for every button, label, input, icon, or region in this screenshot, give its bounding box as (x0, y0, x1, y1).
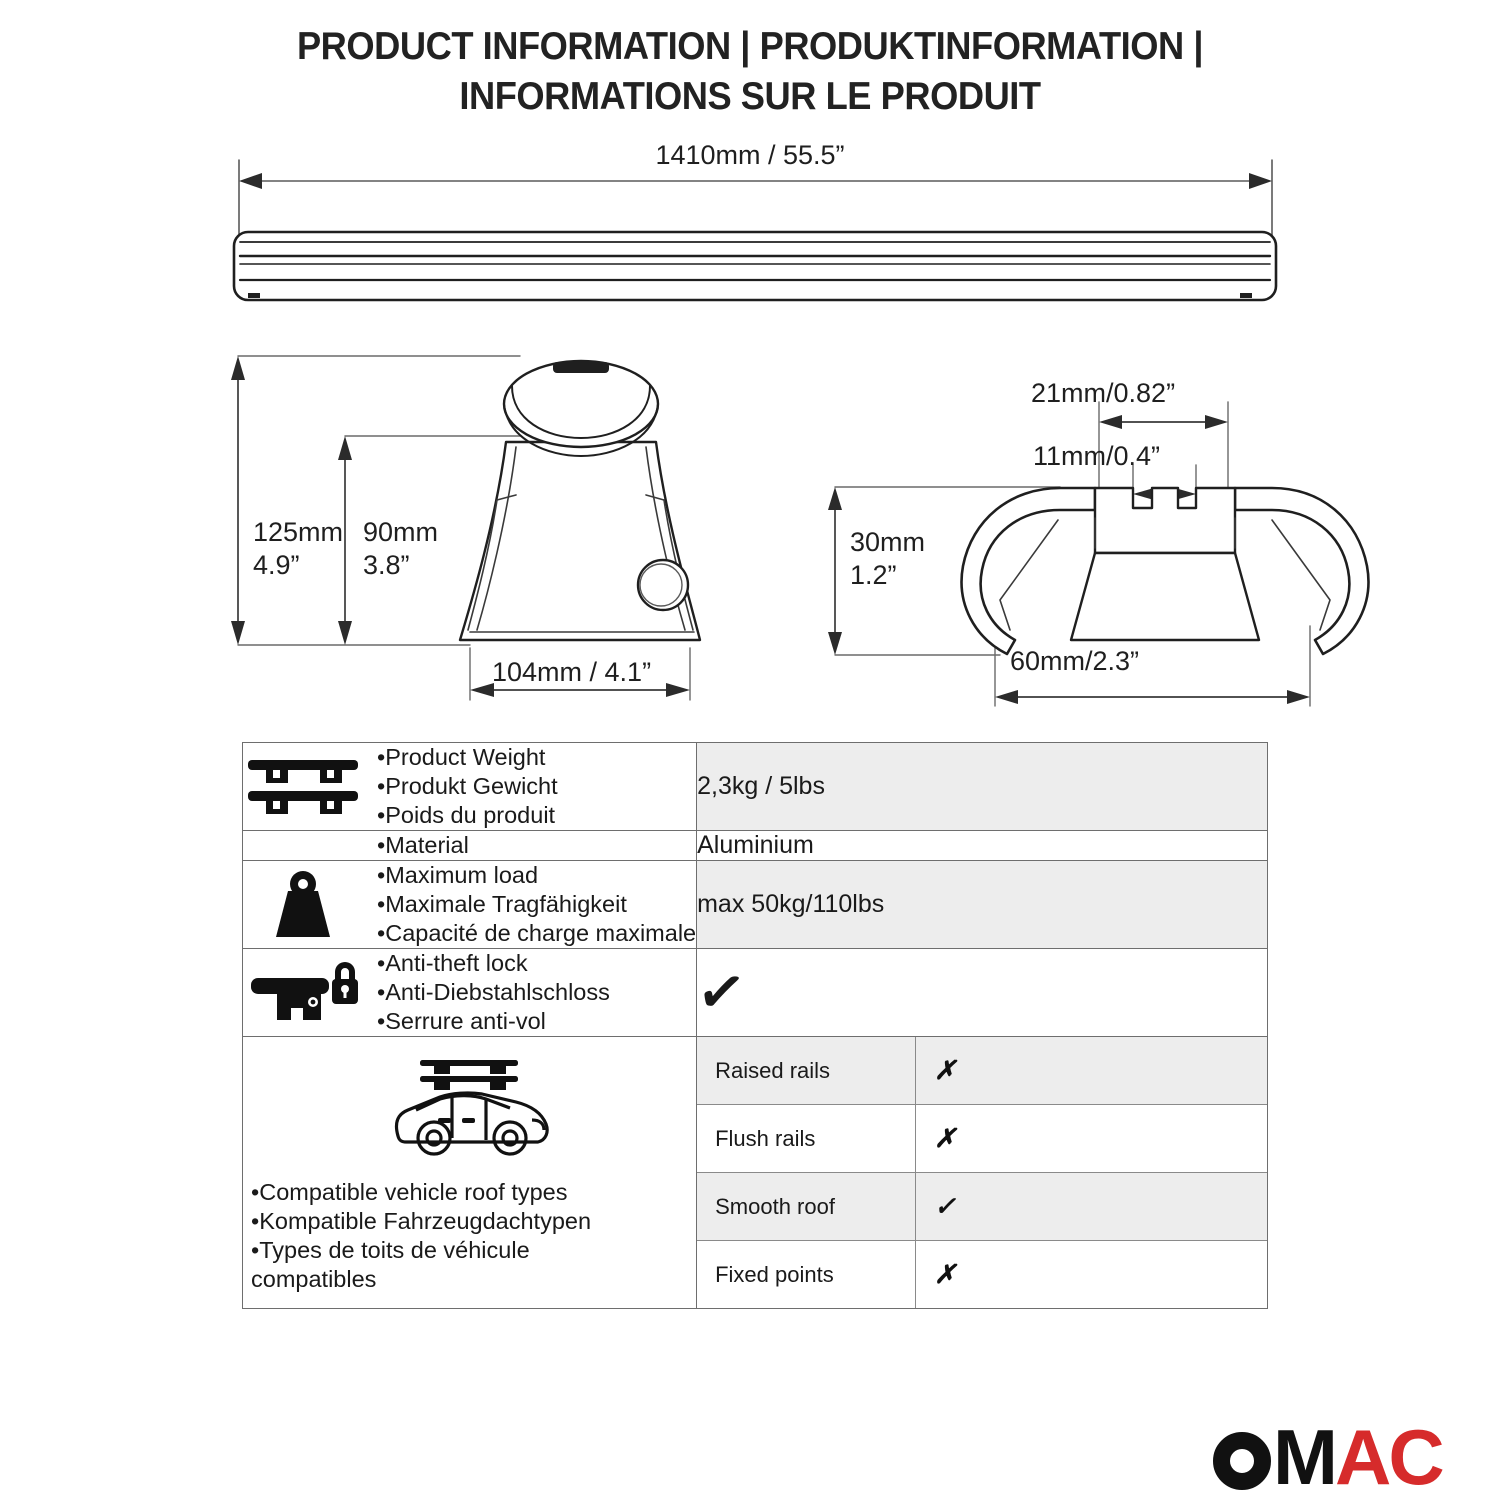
profile-slot-width-label: 11mm/0.4” (1033, 440, 1160, 473)
bullet-line: •Maximale Tragfähigkeit (377, 890, 696, 919)
bullet-line: •Compatible vehicle roof types (251, 1178, 591, 1207)
roof-option-label: Fixed points (697, 1241, 916, 1309)
spec-bullets: •Product Weight •Produkt Gewicht •Poids … (377, 743, 558, 830)
profile-width-label: 60mm/2.3” (1010, 645, 1139, 678)
roof-label-cell: •Compatible vehicle roof types •Kompatib… (243, 1037, 697, 1309)
spec-bullets: •Anti-theft lock •Anti-Diebstahlschloss … (377, 949, 610, 1036)
roof-option-row: Fixed points ✗ (697, 1241, 1267, 1309)
foot-width-label: 104mm / 4.1” (492, 656, 651, 689)
bullet-line: •Product Weight (377, 743, 558, 772)
weight-icon (243, 869, 363, 941)
bullet-line: •Anti-Diebstahlschloss (377, 978, 610, 1007)
table-row: •Maximum load •Maximale Tragfähigkeit •C… (243, 861, 1268, 949)
roof-option-label: Flush rails (697, 1105, 916, 1173)
logo-o-mark (1213, 1432, 1271, 1490)
logo-text-red: AC (1335, 1413, 1442, 1501)
table-row: •Anti-theft lock •Anti-Diebstahlschloss … (243, 949, 1268, 1037)
height-total-label: 125mm4.9” (253, 516, 343, 582)
check-icon: ✓ (693, 960, 749, 1024)
bullet-line: •Kompatible Fahrzeugdachtypen (251, 1207, 591, 1236)
roof-option-row: Smooth roof ✓ (697, 1173, 1267, 1241)
profile-height-label: 30mm1.2” (850, 526, 925, 592)
roof-options-cell: Raised rails ✗ Flush rails ✗ Smooth roof… (697, 1037, 1268, 1309)
roof-option-mark: ✗ (916, 1105, 1267, 1173)
table-row-roof-types: •Compatible vehicle roof types •Kompatib… (243, 1037, 1268, 1309)
spec-value-max-load: max 50kg/110lbs (697, 861, 1268, 949)
spec-table: •Product Weight •Produkt Gewicht •Poids … (242, 742, 1268, 1309)
spec-value-material: Aluminium (697, 831, 1268, 861)
roof-bullets: •Compatible vehicle roof types •Kompatib… (243, 1178, 591, 1294)
bullet-line: •Capacité de charge maximale (377, 919, 696, 948)
lock-icon (243, 958, 363, 1028)
table-row: •Material Aluminium (243, 831, 1268, 861)
logo-text-black: M (1273, 1413, 1335, 1501)
roof-option-label: Raised rails (697, 1037, 916, 1105)
bullet-line: •Poids du produit (377, 801, 558, 830)
spec-label-cell: •Material (243, 831, 697, 861)
spec-value-lock: ✓ (697, 949, 1268, 1037)
table-row: •Product Weight •Produkt Gewicht •Poids … (243, 743, 1268, 831)
roof-option-label: Smooth roof (697, 1173, 916, 1241)
bullet-line: •Anti-theft lock (377, 949, 610, 978)
spec-label-cell: •Product Weight •Produkt Gewicht •Poids … (243, 743, 697, 831)
bullet-line: •Serrure anti-vol (377, 1007, 610, 1036)
roof-option-mark: ✓ (916, 1173, 1267, 1241)
roof-types-table: Raised rails ✗ Flush rails ✗ Smooth roof… (697, 1037, 1267, 1308)
bullet-line: •Produkt Gewicht (377, 772, 558, 801)
spec-bullets: •Maximum load •Maximale Tragfähigkeit •C… (377, 861, 696, 948)
roof-option-row: Raised rails ✗ (697, 1037, 1267, 1105)
bullet-line: •Types de toits de véhicule (251, 1236, 591, 1265)
roof-option-mark: ✗ (916, 1037, 1267, 1105)
profile-top-width-label: 21mm/0.82” (1031, 377, 1175, 410)
spec-label-cell: •Maximum load •Maximale Tragfähigkeit •C… (243, 861, 697, 949)
car-with-rack-icon (243, 1052, 696, 1164)
bullet-line: compatibles (251, 1265, 591, 1294)
height-inner-label: 90mm3.8” (363, 516, 438, 582)
roof-option-row: Flush rails ✗ (697, 1105, 1267, 1173)
two-crossbars-icon (243, 754, 363, 820)
bullet-line: •Material (377, 831, 469, 860)
roof-option-mark: ✗ (916, 1241, 1267, 1309)
omac-logo: MAC (1213, 1418, 1442, 1496)
bullet-line: •Maximum load (377, 861, 696, 890)
spec-bullets: •Material (377, 831, 469, 860)
spec-label-cell: •Anti-theft lock •Anti-Diebstahlschloss … (243, 949, 697, 1037)
spec-value-weight: 2,3kg / 5lbs (697, 743, 1268, 831)
